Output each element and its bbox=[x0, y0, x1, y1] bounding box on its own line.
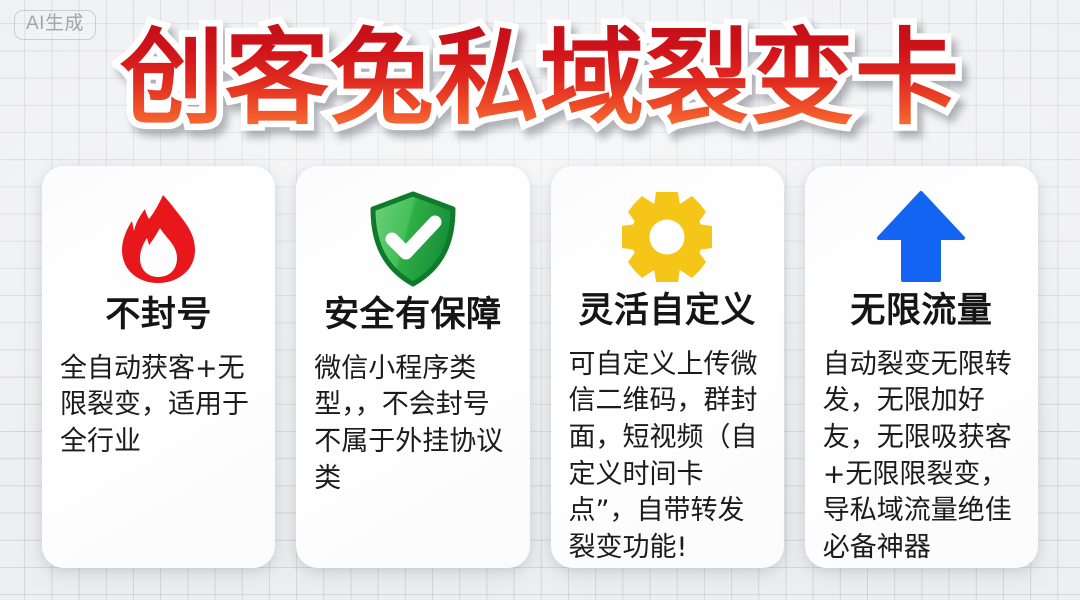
arrow-up-icon bbox=[877, 190, 965, 284]
flame-icon bbox=[116, 190, 202, 288]
ai-generated-badge: AI生成 bbox=[14, 10, 96, 40]
feature-card-body: 微信小程序类型，，不会封号不属于外挂协议类 bbox=[310, 351, 515, 498]
promo-poster: AI生成 创客兔私域裂变卡 创客兔私域裂变卡 不封号 全自动获客+无限裂变，适用… bbox=[0, 0, 1080, 600]
feature-card-title: 安全有保障 bbox=[324, 296, 502, 335]
feature-card-body: 全自动获客+无限裂变，适用于全行业 bbox=[56, 351, 261, 461]
page-title-text: 创客兔私域裂变卡 bbox=[120, 17, 960, 139]
headline-container: 创客兔私域裂变卡 创客兔私域裂变卡 bbox=[0, 12, 1080, 144]
feature-card-secure[interactable]: 安全有保障 微信小程序类型，，不会封号不属于外挂协议类 bbox=[296, 166, 529, 568]
feature-card-unlimited-traffic[interactable]: 无限流量 自动裂变无限转发，无限加好友，无限吸获客+无限限裂变，导私域流量绝佳必… bbox=[805, 166, 1038, 568]
page-title: 创客兔私域裂变卡 创客兔私域裂变卡 bbox=[120, 26, 960, 130]
feature-card-title: 灵活自定义 bbox=[578, 292, 756, 331]
feature-card-customizable[interactable]: 灵活自定义 可自定义上传微信二维码，群封面，短视频（自定义时间卡点”，自带转发裂… bbox=[551, 166, 784, 568]
feature-card-title: 不封号 bbox=[105, 296, 212, 335]
shield-check-icon bbox=[367, 190, 459, 288]
gear-icon bbox=[620, 190, 714, 284]
feature-card-no-ban[interactable]: 不封号 全自动获客+无限裂变，适用于全行业 bbox=[42, 166, 275, 568]
feature-card-body: 可自定义上传微信二维码，群封面，短视频（自定义时间卡点”，自带转发裂变功能! bbox=[565, 347, 770, 567]
feature-card-body: 自动裂变无限转发，无限加好友，无限吸获客+无限限裂变，导私域流量绝佳必备神器 bbox=[819, 347, 1024, 567]
feature-card-row: 不封号 全自动获客+无限裂变，适用于全行业 bbox=[42, 166, 1038, 568]
feature-card-title: 无限流量 bbox=[850, 292, 992, 331]
ai-generated-badge-label: AI生成 bbox=[26, 14, 84, 34]
